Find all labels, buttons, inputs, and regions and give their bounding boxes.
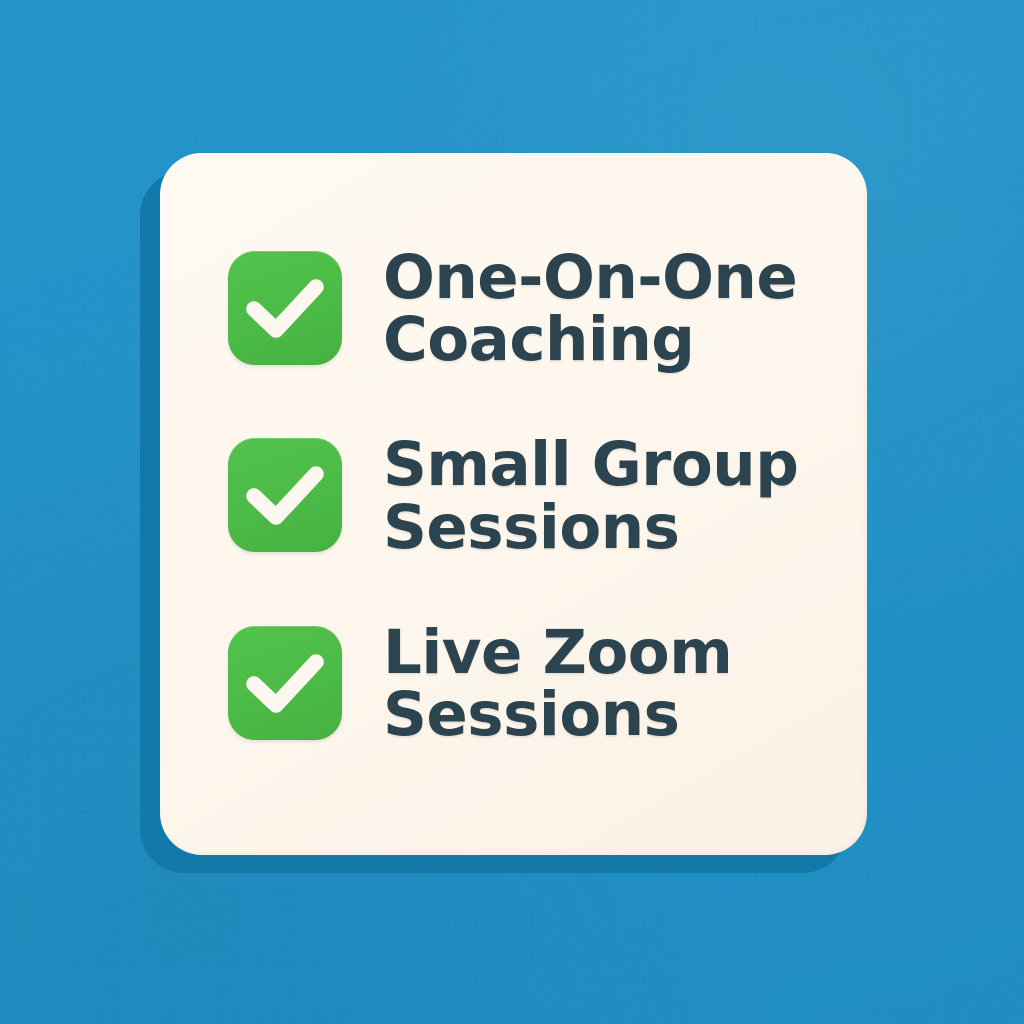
- list-item[interactable]: One-On-One Coaching: [228, 245, 839, 371]
- checklist: One-On-One Coaching Small Group Sessions: [228, 245, 839, 746]
- check-icon: [228, 438, 342, 552]
- list-item-label: One-On-One Coaching: [383, 245, 797, 371]
- checkbox-checked[interactable]: [228, 438, 342, 552]
- list-item-label: Small Group Sessions: [383, 432, 798, 558]
- check-icon: [228, 251, 342, 365]
- checkbox-checked[interactable]: [228, 251, 342, 365]
- list-item-label: Live Zoom Sessions: [383, 620, 732, 746]
- feature-card: One-On-One Coaching Small Group Sessions: [160, 153, 867, 855]
- poster-canvas: One-On-One Coaching Small Group Sessions: [0, 0, 1024, 1024]
- check-icon: [228, 626, 342, 740]
- list-item[interactable]: Small Group Sessions: [228, 432, 839, 558]
- checkbox-checked[interactable]: [228, 626, 342, 740]
- list-item[interactable]: Live Zoom Sessions: [228, 620, 839, 746]
